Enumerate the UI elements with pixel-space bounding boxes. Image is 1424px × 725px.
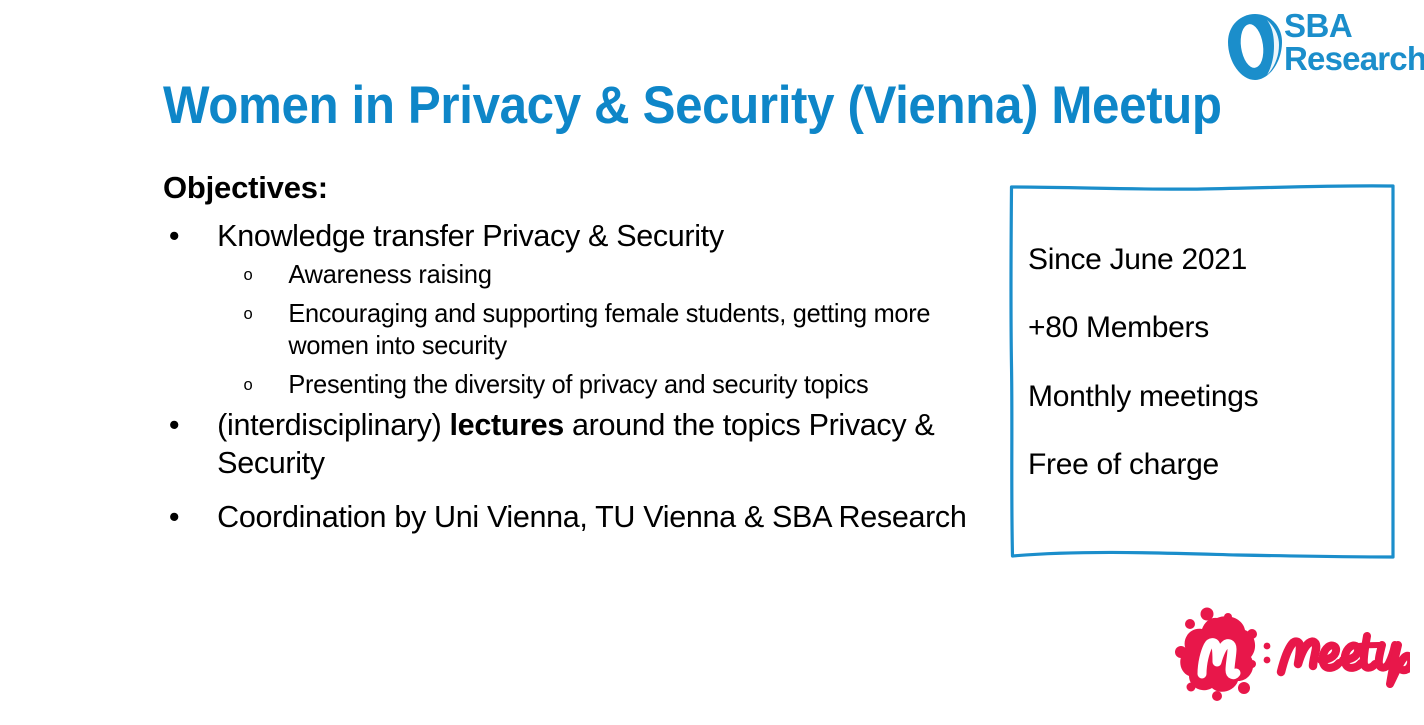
sba-wordmark-line2: Research xyxy=(1284,43,1424,75)
list-item: • Knowledge transfer Privacy & Security … xyxy=(163,217,971,401)
sba-research-logo: SBA Research xyxy=(1222,8,1422,84)
content-column: Objectives: • Knowledge transfer Privacy… xyxy=(163,170,983,540)
list-item: • Coordination by Uni Vienna, TU Vienna … xyxy=(163,498,971,536)
info-box-lines: Since June 2021 +80 Members Monthly meet… xyxy=(1028,242,1376,483)
list-item: o Awareness raising xyxy=(217,258,963,291)
list-item-label: Presenting the diversity of privacy and … xyxy=(288,369,868,399)
info-line-members: +80 Members xyxy=(1028,310,1376,345)
sub-bullet-marker: o xyxy=(244,298,253,329)
objectives-heading: Objectives: xyxy=(163,170,983,206)
list-item-label: Coordination by Uni Vienna, TU Vienna & … xyxy=(217,499,966,534)
sub-bullet-marker: o xyxy=(244,259,253,290)
bullet-marker: • xyxy=(169,406,179,444)
meetup-wordmark xyxy=(1264,636,1410,684)
slide-title: Women in Privacy & Security (Vienna) Mee… xyxy=(163,78,1260,134)
objectives-list: • Knowledge transfer Privacy & Security … xyxy=(163,217,983,536)
list-item-label-emphasis: lectures xyxy=(450,407,564,442)
info-line-since: Since June 2021 xyxy=(1028,242,1376,277)
sba-wordmark: SBA Research xyxy=(1284,10,1424,76)
list-item-label: Awareness raising xyxy=(288,259,491,289)
sub-list: o Awareness raising o Encouraging and su… xyxy=(217,258,971,400)
sba-teardrop-icon xyxy=(1222,12,1288,82)
sba-wordmark-line1: SBA xyxy=(1284,10,1424,42)
list-item-label: Knowledge transfer Privacy & Security xyxy=(217,218,724,253)
meetup-blob-icon xyxy=(1175,608,1257,702)
info-line-meetings: Monthly meetings xyxy=(1028,379,1376,414)
bullet-marker: • xyxy=(169,498,179,536)
meetup-logo xyxy=(1155,602,1410,702)
info-box: Since June 2021 +80 Members Monthly meet… xyxy=(1002,176,1402,570)
info-line-price: Free of charge xyxy=(1028,447,1376,482)
bullet-marker: • xyxy=(169,217,179,255)
list-item: o Presenting the diversity of privacy an… xyxy=(217,368,963,401)
sub-bullet-marker: o xyxy=(244,369,253,400)
list-item: o Encouraging and supporting female stud… xyxy=(217,297,963,362)
list-item-label-before: (interdisciplinary) xyxy=(217,407,449,442)
list-item: • (interdisciplinary) lectures around th… xyxy=(163,406,971,482)
list-item-label: Encouraging and supporting female studen… xyxy=(288,298,930,361)
slide-canvas: SBA Research Women in Privacy & Security… xyxy=(0,0,1424,725)
